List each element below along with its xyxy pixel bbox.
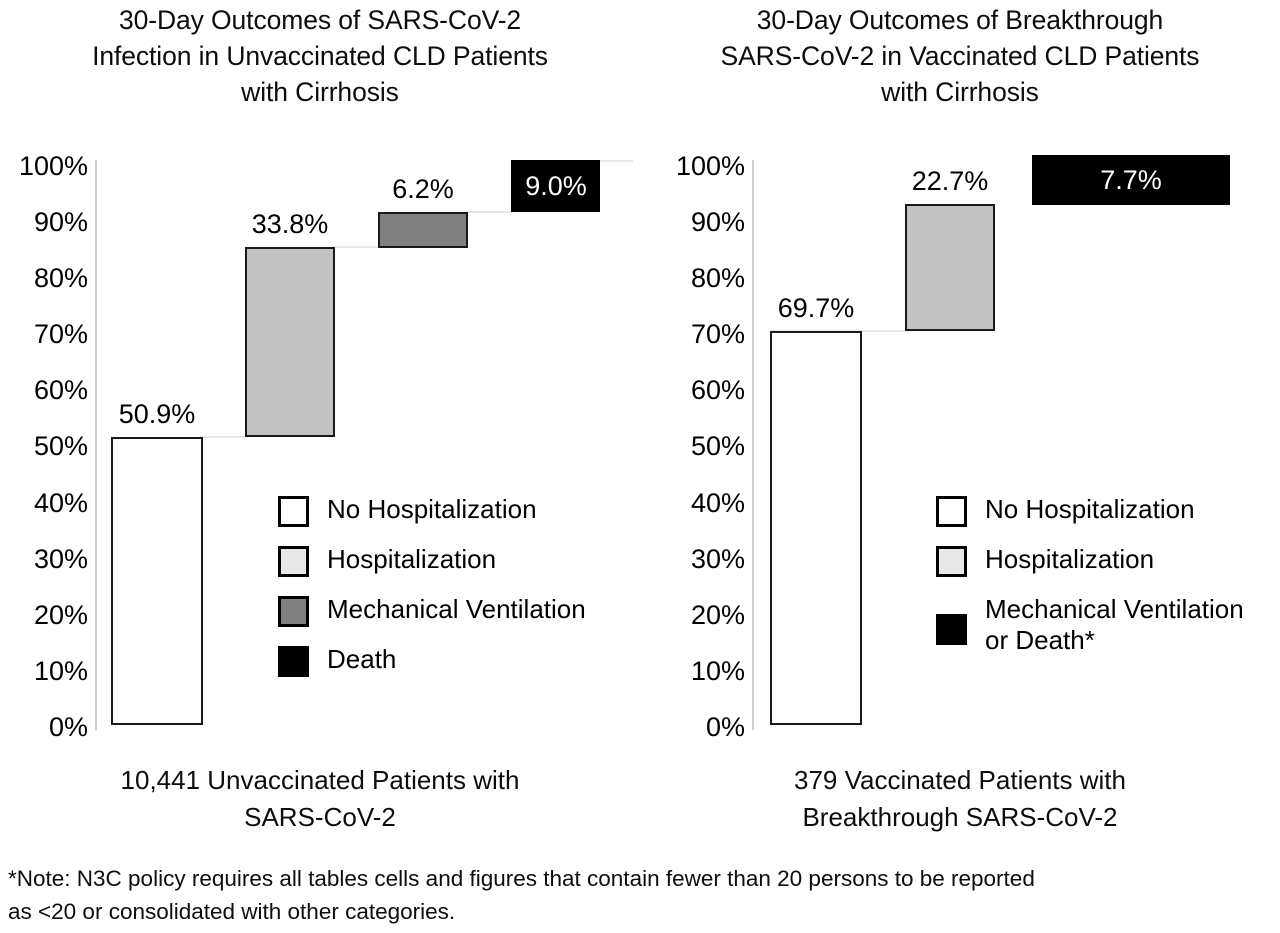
right-ytick-0: 0%: [650, 714, 745, 741]
legend-swatch-lightgray-icon: [278, 546, 309, 577]
right-ytick-90: 90%: [650, 209, 745, 236]
right-bar-label-no-hospitalization: 69.7%: [746, 295, 886, 322]
left-ytick-70: 70%: [0, 321, 88, 348]
legend-swatch-black-icon: [278, 646, 309, 677]
left-legend: No Hospitalization Hospitalization Mecha…: [278, 494, 586, 694]
figure-root: 30-Day Outcomes of SARS-CoV-2 Infection …: [0, 0, 1280, 933]
left-ytick-10: 10%: [0, 658, 88, 685]
right-ytick-100: 100%: [650, 153, 745, 180]
left-ytick-100: 100%: [0, 153, 88, 180]
right-legend-label-2: Hospitalization: [985, 544, 1154, 575]
left-bar-no-hospitalization[interactable]: [111, 437, 203, 725]
left-bar-label-hospitalization: 33.8%: [220, 211, 360, 238]
legend-swatch-gray-icon: [278, 596, 309, 627]
legend-swatch-lightgray-icon: [936, 546, 967, 577]
right-ytick-40: 40%: [650, 490, 745, 517]
left-plot-area: 100% 90% 80% 70% 60% 50% 40% 30% 20% 10%…: [0, 0, 640, 848]
left-legend-item-death[interactable]: Death: [278, 644, 586, 677]
left-legend-item-no-hospitalization[interactable]: No Hospitalization: [278, 494, 586, 527]
right-ytick-10: 10%: [650, 658, 745, 685]
right-bar-no-hospitalization[interactable]: [770, 331, 862, 725]
left-legend-label-2: Hospitalization: [327, 544, 496, 575]
right-legend-label-3: Mechanical Ventilation or Death*: [985, 594, 1244, 656]
right-ytick-20: 20%: [650, 602, 745, 629]
left-bar-label-death: 9.0%: [501, 173, 611, 200]
right-ytick-30: 30%: [650, 546, 745, 573]
panels-container: 30-Day Outcomes of SARS-CoV-2 Infection …: [0, 0, 1280, 848]
right-legend-item-no-hospitalization[interactable]: No Hospitalization: [936, 494, 1244, 527]
right-chart-caption: 379 Vaccinated Patients with Breakthroug…: [640, 762, 1280, 836]
footnote-line-2: as <20 or consolidated with other catego…: [8, 895, 1208, 928]
left-ytick-30: 30%: [0, 546, 88, 573]
panel-vaccinated: 30-Day Outcomes of Breakthrough SARS-CoV…: [640, 0, 1280, 848]
right-ytick-80: 80%: [650, 265, 745, 292]
legend-swatch-white-icon: [936, 496, 967, 527]
panel-unvaccinated: 30-Day Outcomes of SARS-CoV-2 Infection …: [0, 0, 640, 848]
left-connector-3: [465, 211, 514, 213]
left-bar-hospitalization[interactable]: [245, 247, 335, 437]
figure-footnote: *Note: N3C policy requires all tables ce…: [8, 862, 1208, 928]
right-bar-label-mechanical-ventilation-or-death: 7.7%: [1076, 167, 1186, 194]
left-caption-line-2: SARS-CoV-2: [0, 799, 640, 836]
left-legend-label-4: Death: [327, 644, 396, 675]
right-bar-hospitalization[interactable]: [905, 204, 995, 331]
right-legend-item-mechanical-ventilation-or-death[interactable]: Mechanical Ventilation or Death*: [936, 594, 1244, 656]
footnote-line-1: *Note: N3C policy requires all tables ce…: [8, 862, 1208, 895]
right-ytick-70: 70%: [650, 321, 745, 348]
left-legend-label-3: Mechanical Ventilation: [327, 594, 586, 625]
left-ytick-50: 50%: [0, 433, 88, 460]
left-ytick-80: 80%: [0, 265, 88, 292]
left-ytick-90: 90%: [0, 209, 88, 236]
right-plot-area: 100% 90% 80% 70% 60% 50% 40% 30% 20% 10%…: [640, 0, 1280, 848]
left-legend-label-1: No Hospitalization: [327, 494, 537, 525]
left-legend-item-hospitalization[interactable]: Hospitalization: [278, 544, 586, 577]
right-legend-label-1: No Hospitalization: [985, 494, 1195, 525]
legend-swatch-white-icon: [278, 496, 309, 527]
right-legend: No Hospitalization Hospitalization Mecha…: [936, 494, 1244, 673]
left-y-axis-line: [95, 160, 97, 730]
left-ytick-0: 0%: [0, 714, 88, 741]
left-bar-label-mechanical-ventilation: 6.2%: [368, 176, 478, 203]
left-ytick-60: 60%: [0, 377, 88, 404]
left-connector-1: [200, 436, 248, 438]
right-legend-item-hospitalization[interactable]: Hospitalization: [936, 544, 1244, 577]
left-chart-caption: 10,441 Unvaccinated Patients with SARS-C…: [0, 762, 640, 836]
left-bar-label-no-hospitalization: 50.9%: [87, 401, 227, 428]
left-caption-line-1: 10,441 Unvaccinated Patients with: [0, 762, 640, 799]
left-connector-4: [597, 160, 633, 162]
legend-swatch-black-icon: [936, 614, 967, 645]
right-caption-line-1: 379 Vaccinated Patients with: [640, 762, 1280, 799]
left-bar-mechanical-ventilation[interactable]: [378, 212, 468, 248]
left-connector-2: [332, 246, 381, 248]
right-ytick-60: 60%: [650, 377, 745, 404]
right-y-axis-line: [752, 160, 754, 730]
right-caption-line-2: Breakthrough SARS-CoV-2: [640, 799, 1280, 836]
left-ytick-20: 20%: [0, 602, 88, 629]
right-bar-label-hospitalization: 22.7%: [880, 168, 1020, 195]
right-ytick-50: 50%: [650, 433, 745, 460]
left-ytick-40: 40%: [0, 490, 88, 517]
left-legend-item-mechanical-ventilation[interactable]: Mechanical Ventilation: [278, 594, 586, 627]
